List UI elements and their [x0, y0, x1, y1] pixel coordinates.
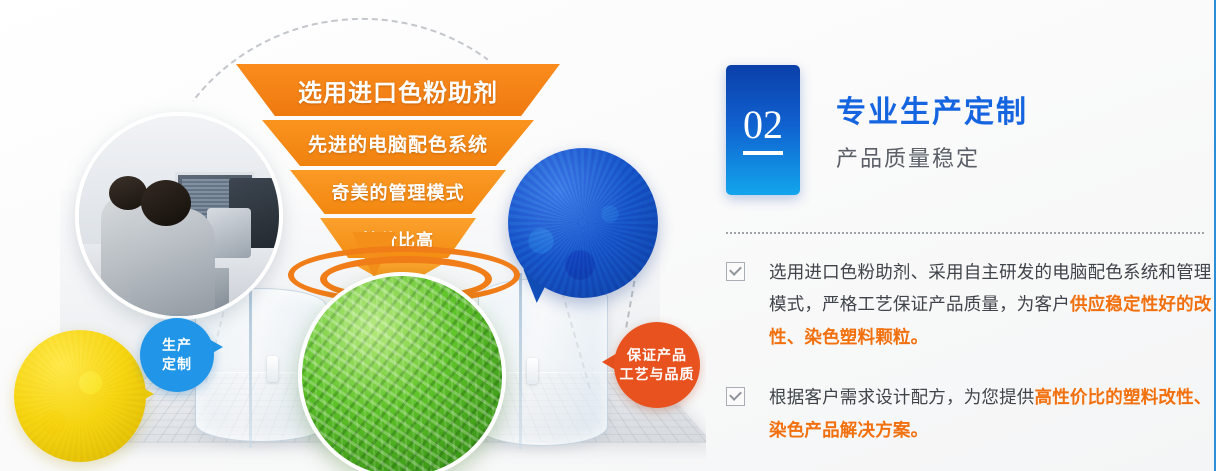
section-number: 02 [743, 105, 783, 155]
page-subtitle: 产品质量稳定 [836, 141, 1028, 173]
funnel-tier-1: 选用进口色粉助剂 [236, 64, 560, 116]
green-pellets-sphere [298, 272, 506, 471]
content-panel: 02 专业生产定制 产品质量稳定 选用进口色粉助剂、采用自主研发的电脑配色系统和… [706, 0, 1216, 471]
section-number-badge: 02 [726, 65, 800, 195]
checkbox-check-icon [726, 262, 745, 281]
bullet-list: 选用进口色粉助剂、采用自主研发的电脑配色系统和管理模式，严格工艺保证产品质量，为… [726, 256, 1216, 471]
badge-quality-guarantee: 保证产品 工艺与品质 [614, 322, 700, 408]
badge-orange-line1: 保证产品 [627, 346, 687, 365]
checkbox-check-icon [726, 387, 745, 406]
badge-orange-line2: 工艺与品质 [620, 365, 695, 384]
promo-banner: 选用进口色粉助剂 先进的电脑配色系统 奇美的管理模式 性价比高 生产 定制 保证… [0, 0, 1216, 471]
bullet-2-lead: 根据客户需求设计配方，为您提供 [769, 387, 1035, 407]
yellow-powder-circle [14, 330, 146, 462]
section-heading-group: 专业生产定制 产品质量稳定 [836, 65, 1028, 173]
section-header: 02 专业生产定制 产品质量稳定 [726, 65, 1028, 195]
glass-handle-right [527, 358, 538, 384]
illustration-panel: 选用进口色粉助剂 先进的电脑配色系统 奇美的管理模式 性价比高 生产 定制 保证… [0, 0, 706, 471]
bullet-text-2: 根据客户需求设计配方，为您提供高性价比的塑料改性、染色产品解决方案。 [769, 381, 1216, 446]
photo-person-two-head [141, 180, 191, 226]
page-title: 专业生产定制 [836, 95, 1028, 131]
list-item: 选用进口色粉助剂、采用自主研发的电脑配色系统和管理模式，严格工艺保证产品质量，为… [726, 256, 1216, 353]
funnel-tier-2: 先进的电脑配色系统 [262, 120, 534, 166]
header-divider [726, 232, 1204, 234]
bullet-text-1: 选用进口色粉助剂、采用自主研发的电脑配色系统和管理模式，严格工艺保证产品质量，为… [769, 256, 1216, 353]
list-item: 根据客户需求设计配方，为您提供高性价比的塑料改性、染色产品解决方案。 [726, 381, 1216, 446]
badge-production-custom: 生产 定制 [140, 318, 214, 392]
badge-blue-line1: 生产 [162, 336, 192, 355]
badge-blue-line2: 定制 [162, 355, 192, 374]
glass-handle-left [267, 356, 278, 382]
funnel-tier-3: 奇美的管理模式 [290, 170, 506, 214]
